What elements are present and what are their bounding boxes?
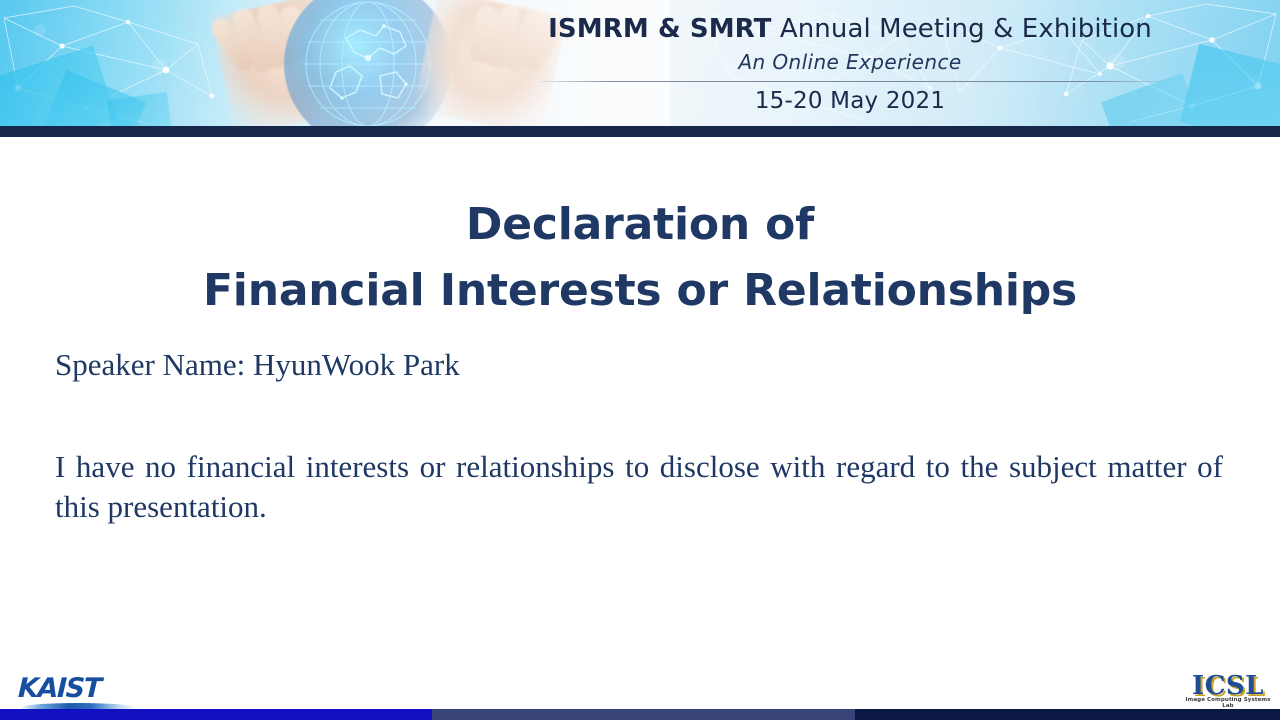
disclosure-text: I have no financial interests or relatio… (55, 449, 1223, 524)
page-title: Declaration of Financial Interests or Re… (0, 192, 1280, 324)
speaker-name-line: Speaker Name: HyunWook Park (55, 347, 1225, 383)
disclosure-statement: I have no financial interests or relatio… (55, 447, 1223, 527)
icsl-logo-subtitle: Image Computing Systems Lab (1182, 697, 1274, 709)
header-accent-strip (0, 126, 1280, 137)
conference-header-text: ISMRM & SMRT Annual Meeting & Exhibition… (500, 0, 1200, 126)
footer-bar-segment-middle (432, 709, 855, 720)
kaist-logo-text: KAIST (17, 673, 101, 704)
conference-dates: 15-20 May 2021 (500, 88, 1200, 114)
conference-header-banner: ISMRM & SMRT Annual Meeting & Exhibition… (0, 0, 1280, 126)
footer-bar-segment-left (0, 709, 432, 720)
conference-name: ISMRM & SMRT Annual Meeting & Exhibition (500, 14, 1200, 44)
conference-name-bold: ISMRM & SMRT (548, 14, 771, 44)
kaist-logo: KAIST (18, 673, 148, 709)
icsl-logo: ICSL Image Computing Systems Lab (1182, 671, 1274, 707)
header-divider (540, 81, 1160, 82)
conference-subtitle: An Online Experience (500, 50, 1200, 74)
footer-bar-segment-right (855, 709, 1280, 720)
conference-name-rest: Annual Meeting & Exhibition (771, 14, 1151, 44)
page-title-line-2: Financial Interests or Relationships (0, 258, 1280, 324)
page-title-line-1: Declaration of (0, 192, 1280, 258)
